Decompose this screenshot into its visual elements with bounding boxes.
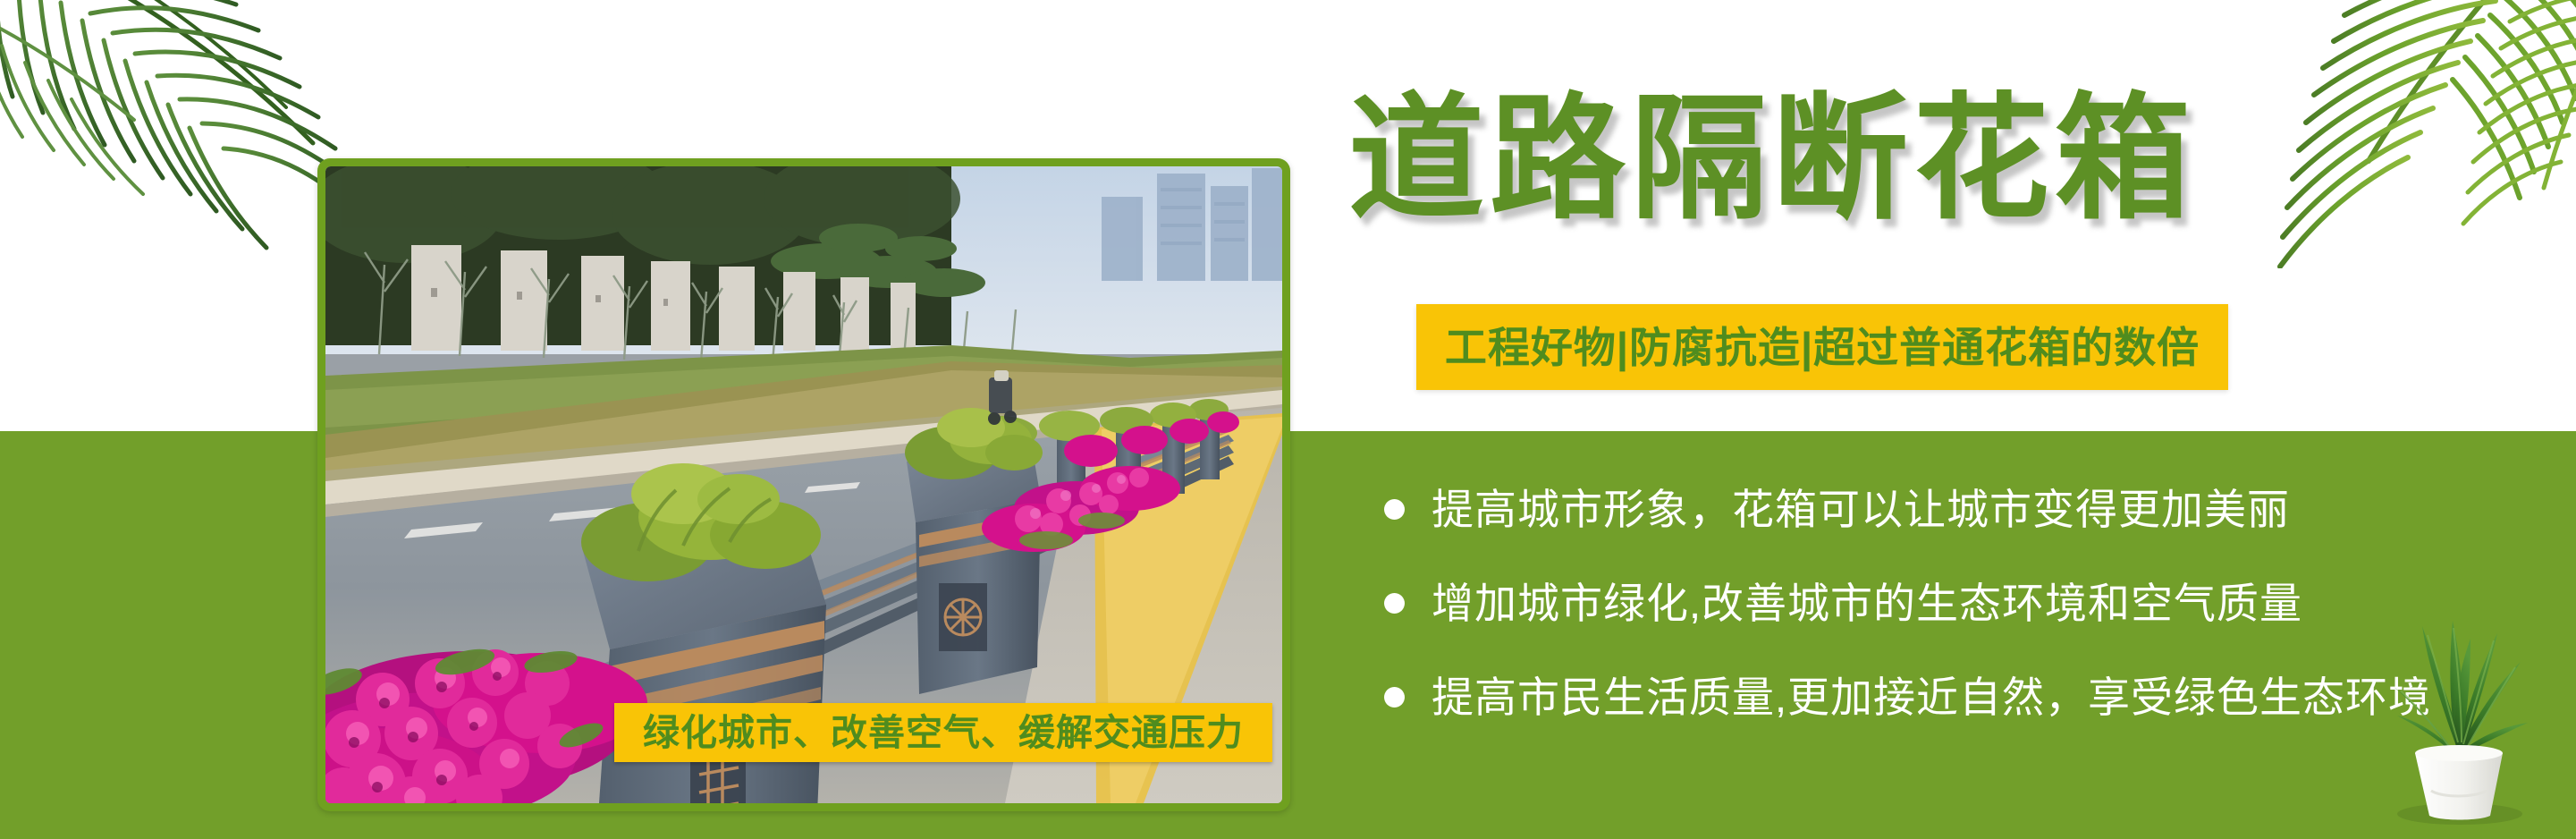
list-item: 提高市民生活质量,更加接近自然，享受绿色生态环境: [1384, 650, 2538, 744]
bullet-dot-icon: [1384, 593, 1405, 614]
feature-list: 提高城市形象，花箱可以让城市变得更加美丽 增加城市绿化,改善城市的生态环境和空气…: [1384, 462, 2538, 744]
product-photo-frame: 绿化城市、改善空气、缓解交通压力: [317, 158, 1290, 811]
photo-caption-ribbon: 绿化城市、改善空气、缓解交通压力: [614, 703, 1272, 762]
subtitle-badge-text: 工程好物|防腐抗造|超过普通花箱的数倍: [1445, 326, 2200, 369]
page-title: 道路隔断花箱: [1348, 86, 2196, 233]
photo-caption-text: 绿化城市、改善空气、缓解交通压力: [643, 715, 1244, 751]
bullet-dot-icon: [1384, 687, 1405, 708]
list-item: 提高城市形象，花箱可以让城市变得更加美丽: [1384, 462, 2538, 556]
feature-text: 提高市民生活质量,更加接近自然，享受绿色生态环境: [1432, 676, 2431, 718]
list-item: 增加城市绿化,改善城市的生态环境和空气质量: [1384, 556, 2538, 650]
palm-frond-top-right: [2129, 0, 2576, 268]
promo-banner: 绿化城市、改善空气、缓解交通压力 道路隔断花箱 工程好物|防腐抗造|超过普通花箱…: [0, 0, 2576, 839]
subtitle-badge: 工程好物|防腐抗造|超过普通花箱的数倍: [1416, 304, 2228, 390]
feature-text: 增加城市绿化,改善城市的生态环境和空气质量: [1432, 582, 2302, 624]
feature-text: 提高城市形象，花箱可以让城市变得更加美丽: [1432, 488, 2290, 530]
bullet-dot-icon: [1384, 499, 1405, 520]
